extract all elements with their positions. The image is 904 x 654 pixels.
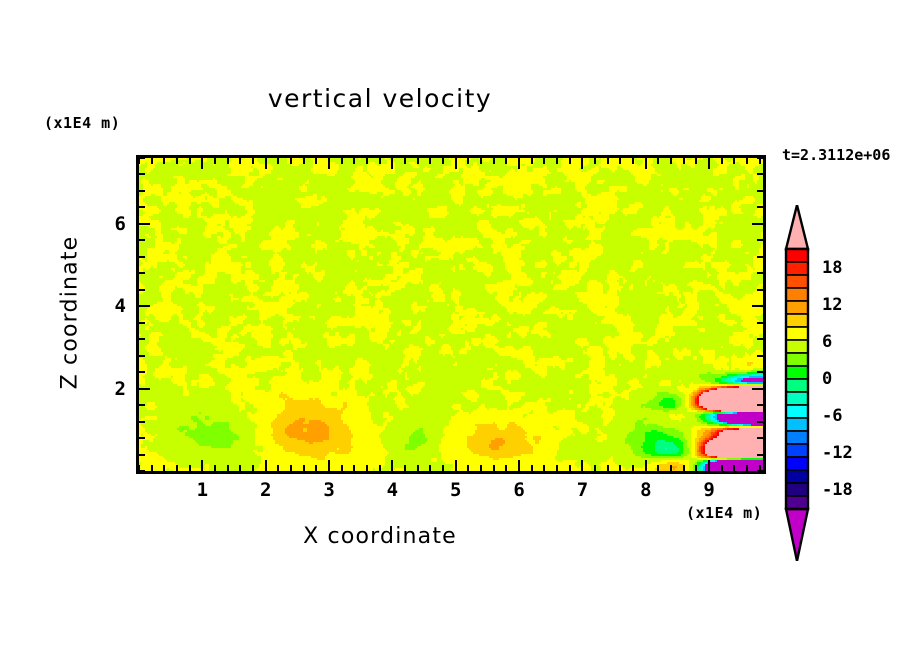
x-axis-tick — [556, 465, 558, 471]
colorbar-segment — [786, 301, 808, 314]
x-axis-tick — [493, 465, 495, 471]
x-axis-tick-top — [163, 158, 165, 164]
z-axis-tick — [139, 206, 145, 208]
z-axis-tick-right — [757, 272, 763, 274]
colorbar-segment — [786, 249, 808, 262]
x-axis-tick — [480, 465, 482, 471]
x-axis-tick-top — [265, 158, 267, 169]
x-axis-tick — [353, 465, 355, 471]
z-axis-tick-right — [757, 173, 763, 175]
x-axis-tick-top — [632, 158, 634, 164]
z-axis-tick — [139, 404, 145, 406]
x-axis-tick — [531, 465, 533, 471]
x-axis-tick-top — [657, 158, 659, 164]
y-axis-title: Z coordinate — [58, 183, 83, 443]
colorbar-tick-label: 6 — [822, 332, 832, 352]
x-axis-tick — [581, 460, 583, 471]
colorbar-segment — [786, 353, 808, 366]
x-axis-tick-top — [670, 158, 672, 164]
x-axis-tick — [315, 465, 317, 471]
z-axis-tick-right — [757, 454, 763, 456]
z-axis-tick-right — [757, 256, 763, 258]
x-axis-tick-top — [151, 158, 153, 164]
z-axis-tick — [139, 388, 150, 390]
colorbar-segment — [786, 379, 808, 392]
x-axis-tick — [366, 465, 368, 471]
x-axis-tick — [290, 465, 292, 471]
x-axis-tick — [619, 465, 621, 471]
z-axis-tick — [139, 173, 145, 175]
z-axis-tick-right — [752, 305, 763, 307]
x-axis-tick — [442, 465, 444, 471]
colorbar-segment — [786, 314, 808, 327]
x-axis-tick — [239, 465, 241, 471]
colorbar-segment — [786, 262, 808, 275]
z-axis-tick-right — [757, 421, 763, 423]
x-axis-tick — [670, 465, 672, 471]
x-tick-label: 1 — [182, 479, 222, 501]
z-tick-label: 6 — [86, 213, 126, 235]
x-axis-tick — [594, 465, 596, 471]
x-tick-label: 8 — [626, 479, 666, 501]
x-axis-tick-top — [277, 158, 279, 164]
z-axis-tick-right — [757, 371, 763, 373]
x-axis-tick-top — [201, 158, 203, 169]
x-axis-tick-top — [455, 158, 457, 169]
z-tick-label: 2 — [86, 378, 126, 400]
x-axis-tick-top — [607, 158, 609, 164]
x-axis-tick — [683, 465, 685, 471]
x-axis-tick — [227, 465, 229, 471]
z-axis-tick — [139, 157, 145, 159]
x-tick-label: 6 — [499, 479, 539, 501]
x-axis-tick — [404, 465, 406, 471]
x-axis-tick-top — [214, 158, 216, 164]
z-axis-tick — [139, 322, 145, 324]
x-axis-tick-top — [721, 158, 723, 164]
x-axis-tick-top — [708, 158, 710, 169]
z-axis-tick — [139, 256, 145, 258]
chart-title: vertical velocity — [0, 84, 760, 113]
z-axis-tick — [139, 371, 145, 373]
colorbar-tick-label: -12 — [822, 443, 853, 463]
x-axis-tick — [252, 465, 254, 471]
x-axis-tick-top — [619, 158, 621, 164]
colorbar-tick-label: -6 — [822, 406, 842, 426]
x-axis-tick — [543, 465, 545, 471]
x-axis-tick-top — [227, 158, 229, 164]
x-axis-tick-top — [404, 158, 406, 164]
x-axis-tick — [467, 465, 469, 471]
x-axis-tick-top — [417, 158, 419, 164]
colorbar-tick-label: 12 — [822, 295, 842, 315]
z-axis-tick — [139, 355, 145, 357]
colorbar-segment — [786, 444, 808, 457]
z-axis-tick-right — [757, 338, 763, 340]
x-axis-tick-top — [442, 158, 444, 164]
x-axis-tick — [455, 460, 457, 471]
x-tick-label: 7 — [562, 479, 602, 501]
z-axis-unit-label: (x1E4 m) — [44, 114, 120, 132]
colorbar-segment — [786, 288, 808, 301]
x-axis-tick-top — [733, 158, 735, 164]
contour-plot — [136, 155, 766, 474]
x-axis-tick-top — [189, 158, 191, 164]
colorbar-over-cap — [786, 205, 808, 249]
x-axis-tick — [569, 465, 571, 471]
x-axis-tick — [657, 465, 659, 471]
colorbar-segment — [786, 496, 808, 509]
x-axis-tick — [733, 465, 735, 471]
x-axis-tick — [265, 460, 267, 471]
x-axis-tick — [505, 465, 507, 471]
colorbar-segment — [786, 392, 808, 405]
x-tick-label: 2 — [246, 479, 286, 501]
x-axis-tick-top — [480, 158, 482, 164]
x-axis-tick-top — [746, 158, 748, 164]
z-axis-tick — [139, 272, 145, 274]
x-axis-tick-top — [505, 158, 507, 164]
x-axis-tick — [391, 460, 393, 471]
colorbar: 181260-6-12-18 — [782, 205, 812, 565]
z-axis-tick — [139, 454, 145, 456]
x-axis-tick — [176, 465, 178, 471]
colorbar-segment — [786, 470, 808, 483]
x-axis-tick-top — [429, 158, 431, 164]
x-axis-tick — [607, 465, 609, 471]
colorbar-segment — [786, 340, 808, 353]
z-axis-tick-right — [757, 437, 763, 439]
x-axis-tick-top — [683, 158, 685, 164]
x-axis-tick-top — [518, 158, 520, 169]
colorbar-segment — [786, 431, 808, 444]
x-axis-tick — [429, 465, 431, 471]
z-axis-tick — [139, 190, 145, 192]
x-axis-tick-top — [493, 158, 495, 164]
x-axis-tick-top — [594, 158, 596, 164]
z-axis-tick-right — [757, 157, 763, 159]
colorbar-segment — [786, 483, 808, 496]
colorbar-segment — [786, 418, 808, 431]
z-axis-tick-right — [757, 206, 763, 208]
x-axis-tick — [721, 465, 723, 471]
colorbar-tick-label: -18 — [822, 480, 853, 500]
x-axis-tick — [518, 460, 520, 471]
x-axis-tick — [708, 460, 710, 471]
x-axis-tick-top — [467, 158, 469, 164]
z-axis-tick — [139, 223, 150, 225]
z-axis-tick-right — [752, 223, 763, 225]
x-axis-tick-top — [353, 158, 355, 164]
z-tick-label: 4 — [86, 295, 126, 317]
x-axis-tick-top — [556, 158, 558, 164]
x-axis-tick — [379, 465, 381, 471]
z-axis-tick-right — [757, 322, 763, 324]
x-axis-tick-top — [543, 158, 545, 164]
colorbar-segment — [786, 366, 808, 379]
plot-frame — [136, 155, 766, 474]
colorbar-segment — [786, 457, 808, 470]
x-axis-tick-top — [379, 158, 381, 164]
z-axis-tick — [139, 421, 145, 423]
x-axis-tick — [645, 460, 647, 471]
x-axis-unit-label: (x1E4 m) — [686, 504, 762, 522]
z-axis-tick — [139, 437, 145, 439]
colorbar-segment — [786, 405, 808, 418]
x-axis-tick — [303, 465, 305, 471]
z-axis-tick — [139, 338, 145, 340]
x-axis-tick — [746, 465, 748, 471]
x-axis-tick — [632, 465, 634, 471]
z-axis-tick — [139, 289, 145, 291]
x-axis-tick — [341, 465, 343, 471]
x-axis-tick-top — [366, 158, 368, 164]
x-axis-tick-top — [328, 158, 330, 169]
x-axis-tick-top — [252, 158, 254, 164]
z-axis-tick-right — [757, 404, 763, 406]
x-axis-tick — [163, 465, 165, 471]
z-axis-tick-right — [752, 388, 763, 390]
x-axis-tick — [201, 460, 203, 471]
x-axis-tick — [328, 460, 330, 471]
x-axis-tick — [189, 465, 191, 471]
colorbar-tick-label: 18 — [822, 258, 842, 278]
x-axis-tick — [695, 465, 697, 471]
z-axis-tick-right — [757, 470, 763, 472]
x-axis-tick — [277, 465, 279, 471]
z-axis-tick-right — [757, 239, 763, 241]
x-axis-tick-top — [315, 158, 317, 164]
x-axis-tick-top — [581, 158, 583, 169]
colorbar-segment — [786, 327, 808, 340]
x-axis-tick-top — [695, 158, 697, 164]
x-tick-label: 4 — [372, 479, 412, 501]
colorbar-tick-label: 0 — [822, 369, 832, 389]
z-axis-tick — [139, 239, 145, 241]
colorbar-under-cap — [786, 509, 808, 561]
timestamp-label: t=2.3112e+06 — [782, 146, 890, 164]
z-axis-tick — [139, 470, 145, 472]
x-tick-label: 3 — [309, 479, 349, 501]
x-axis-tick — [214, 465, 216, 471]
z-axis-tick-right — [757, 190, 763, 192]
x-axis-tick-top — [176, 158, 178, 164]
colorbar-segment — [786, 275, 808, 288]
x-axis-tick-top — [239, 158, 241, 164]
x-axis-tick — [151, 465, 153, 471]
x-axis-tick — [417, 465, 419, 471]
z-axis-tick-right — [757, 289, 763, 291]
x-axis-tick-top — [645, 158, 647, 169]
x-axis-tick-top — [290, 158, 292, 164]
x-axis-tick-top — [303, 158, 305, 164]
x-axis-title: X coordinate — [0, 524, 760, 549]
z-axis-tick — [139, 305, 150, 307]
x-axis-tick-top — [569, 158, 571, 164]
x-axis-tick-top — [531, 158, 533, 164]
x-axis-tick-top — [341, 158, 343, 164]
x-tick-label: 9 — [689, 479, 729, 501]
z-axis-tick-right — [757, 355, 763, 357]
x-axis-tick-top — [391, 158, 393, 169]
x-tick-label: 5 — [436, 479, 476, 501]
